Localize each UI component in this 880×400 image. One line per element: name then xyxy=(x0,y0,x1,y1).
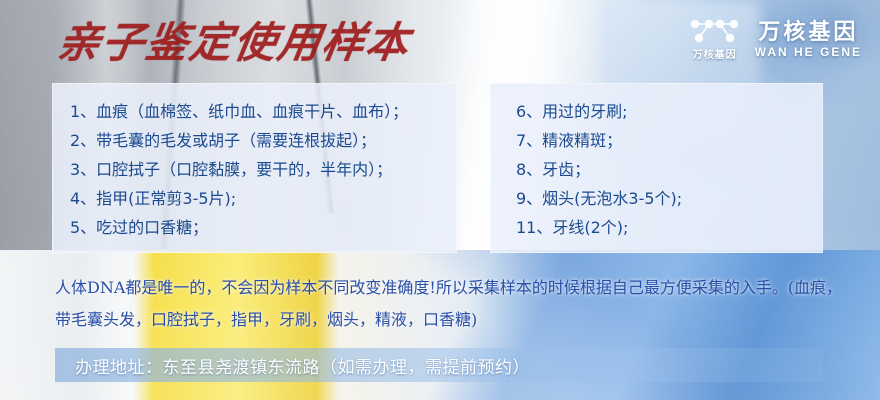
brand-logo: 万核基因 万核基因 WAN HE GENE xyxy=(687,18,862,61)
list-item: 4、指甲(正常剪3-5片); xyxy=(70,184,457,213)
sample-list-panel-right: 6、用过的牙刷; 7、精液精斑； 8、牙齿； 9、烟头(无泡水3-5个); 11… xyxy=(490,83,823,253)
list-item: 8、牙齿； xyxy=(516,155,823,184)
list-item: 11、牙线(2个); xyxy=(516,213,823,242)
molecule-dna-icon xyxy=(687,18,743,44)
logo-name-cn: 万核基因 xyxy=(758,20,858,43)
poster-banner: 亲子鉴定使用样本 xyxy=(0,0,880,400)
list-item: 5、吃过的口香糖； xyxy=(70,213,457,242)
page-title: 亲子鉴定使用样本 xyxy=(55,22,414,64)
list-item: 2、带毛囊的毛发或胡子（需要连根拔起）； xyxy=(70,126,457,155)
address-text: 办理地址：东至县尧渡镇东流路（如需办理，需提前预约） xyxy=(55,353,530,378)
note-paragraph: 人体DNA都是唯一的，不会因为样本不同改变准确度!所以采集样本的时候根据自己最方… xyxy=(55,272,845,336)
list-item: 6、用过的牙刷; xyxy=(516,97,823,126)
list-item: 3、口腔拭子（口腔黏膜，要干的，半年内）； xyxy=(70,155,457,184)
list-item: 1、血痕（血棉签、纸巾血、血痕干片、血布）； xyxy=(70,97,457,126)
logo-name-en: WAN HE GENE xyxy=(755,46,862,59)
sample-list-panel-left: 1、血痕（血棉签、纸巾血、血痕干片、血布）； 2、带毛囊的毛发或胡子（需要连根拔… xyxy=(52,83,457,253)
sample-list-right: 6、用过的牙刷; 7、精液精斑； 8、牙齿； 9、烟头(无泡水3-5个); 11… xyxy=(490,83,823,242)
logo-mark-label: 万核基因 xyxy=(693,46,737,61)
logo-wordmark: 万核基因 WAN HE GENE xyxy=(755,20,862,59)
sample-list-left: 1、血痕（血棉签、纸巾血、血痕干片、血布）； 2、带毛囊的毛发或胡子（需要连根拔… xyxy=(52,83,457,242)
address-band: 办理地址：东至县尧渡镇东流路（如需办理，需提前预约） xyxy=(55,348,823,382)
logo-mark: 万核基因 xyxy=(687,18,743,61)
list-item: 7、精液精斑； xyxy=(516,126,823,155)
list-item: 9、烟头(无泡水3-5个); xyxy=(516,184,823,213)
